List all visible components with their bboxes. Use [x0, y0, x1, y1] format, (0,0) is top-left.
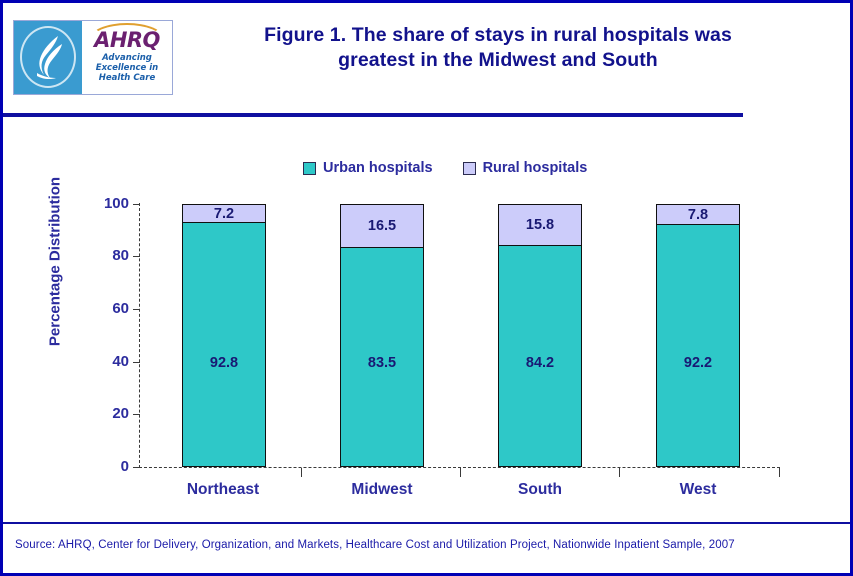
bar-group-south[interactable]: 15.8 84.2 — [498, 204, 582, 467]
bar-segment-rural-south[interactable]: 15.8 — [498, 204, 582, 246]
bar-value-urban-northeast: 92.8 — [210, 355, 238, 371]
y-axis-tick-60 — [133, 309, 140, 310]
figure-page: AHRQ Advancing Excellence in Health Care… — [0, 0, 853, 576]
bar-segment-urban-midwest[interactable]: 83.5 — [340, 247, 424, 467]
x-category-label-midwest: Midwest — [312, 481, 452, 499]
x-category-label-northeast: Northeast — [153, 481, 293, 499]
bar-value-urban-south: 84.2 — [526, 355, 554, 371]
y-tick-label-0: 0 — [83, 460, 129, 474]
y-axis-tick-labels: 100 80 60 40 20 0 — [83, 3, 129, 518]
bar-segment-rural-west[interactable]: 7.8 — [656, 204, 740, 225]
y-axis-tick-0 — [133, 467, 140, 468]
y-axis-title: Percentage Distribution — [47, 152, 64, 372]
bar-value-rural-west: 7.8 — [688, 207, 708, 223]
bar-value-rural-northeast: 7.2 — [214, 206, 234, 222]
x-axis-tick-2 — [460, 468, 461, 477]
y-tick-label-40: 40 — [83, 355, 129, 369]
bar-segment-rural-northeast[interactable]: 7.2 — [182, 204, 266, 223]
bar-value-urban-west: 92.2 — [684, 355, 712, 371]
bar-group-midwest[interactable]: 16.5 83.5 — [340, 204, 424, 467]
y-axis-tick-20 — [133, 414, 140, 415]
stacked-bar-chart: Percentage Distribution 100 80 60 40 20 … — [3, 3, 850, 518]
y-tick-label-60: 60 — [83, 302, 129, 316]
plot-area: 7.2 92.8 16.5 83.5 15.8 84.2 — [140, 204, 780, 467]
bar-value-urban-midwest: 83.5 — [368, 355, 396, 371]
y-tick-label-100: 100 — [83, 197, 129, 211]
y-axis-tick-40 — [133, 362, 140, 363]
y-tick-label-80: 80 — [83, 249, 129, 263]
bar-group-west[interactable]: 7.8 92.2 — [656, 204, 740, 467]
bar-segment-urban-west[interactable]: 92.2 — [656, 224, 740, 467]
x-axis-tick-4 — [779, 468, 780, 477]
x-axis-tick-1 — [301, 468, 302, 477]
footer-divider — [3, 522, 850, 524]
source-note: Source: AHRQ, Center for Delivery, Organ… — [15, 539, 835, 551]
bar-segment-urban-south[interactable]: 84.2 — [498, 245, 582, 467]
x-axis-tick-3 — [619, 468, 620, 477]
x-category-label-west: West — [628, 481, 768, 499]
y-tick-label-20: 20 — [83, 407, 129, 421]
bar-value-rural-midwest: 16.5 — [368, 218, 396, 234]
y-axis-tick-100 — [133, 204, 140, 205]
x-category-label-south: South — [470, 481, 610, 499]
bar-segment-rural-midwest[interactable]: 16.5 — [340, 204, 424, 248]
bar-value-rural-south: 15.8 — [526, 217, 554, 233]
bar-segment-urban-northeast[interactable]: 92.8 — [182, 222, 266, 467]
bar-group-northeast[interactable]: 7.2 92.8 — [182, 204, 266, 467]
y-axis-tick-80 — [133, 256, 140, 257]
